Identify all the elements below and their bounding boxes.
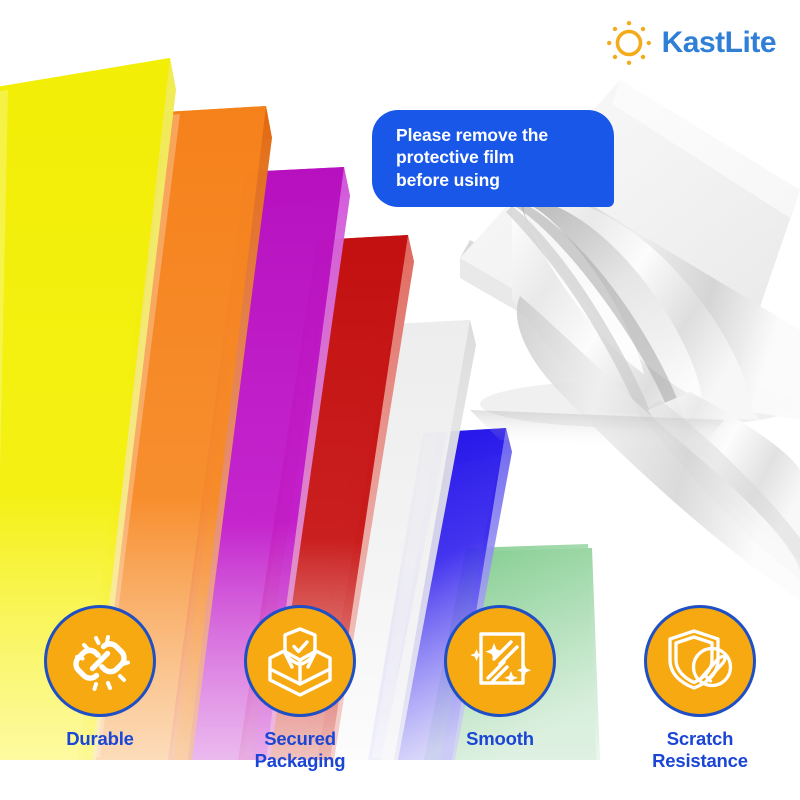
feature-label: Smooth <box>466 728 534 750</box>
feature-label: Secured Packaging <box>255 728 346 772</box>
callout-line-1: Please remove the <box>396 124 596 146</box>
feature-badge <box>444 605 556 717</box>
shield-box-icon <box>262 623 338 699</box>
chain-link-icon <box>63 624 137 698</box>
sun-icon <box>604 18 654 68</box>
brand-name: KastLite <box>662 26 776 60</box>
feature-durable: Durable <box>5 605 195 750</box>
feature-smooth: Smooth <box>405 605 595 750</box>
shield-blade-icon <box>662 623 738 699</box>
callout-line-2: protective film <box>396 146 596 168</box>
feature-badge <box>44 605 156 717</box>
feature-badge <box>644 605 756 717</box>
feature-label: Durable <box>66 728 133 750</box>
sparkle-panel-icon <box>462 623 538 699</box>
brand-logo: KastLite <box>604 18 776 68</box>
product-marketing-image: KastLite Please remove the protective fi… <box>0 0 800 800</box>
feature-badge <box>244 605 356 717</box>
feature-scratch-resistance: Scratch Resistance <box>605 605 795 772</box>
callout-line-3: before using <box>396 169 596 191</box>
feature-label: Scratch Resistance <box>652 728 748 772</box>
feature-secured-packaging: Secured Packaging <box>205 605 395 772</box>
protective-film-callout: Please remove the protective film before… <box>372 110 614 207</box>
feature-list: Durable Secured Packaging <box>0 605 800 772</box>
